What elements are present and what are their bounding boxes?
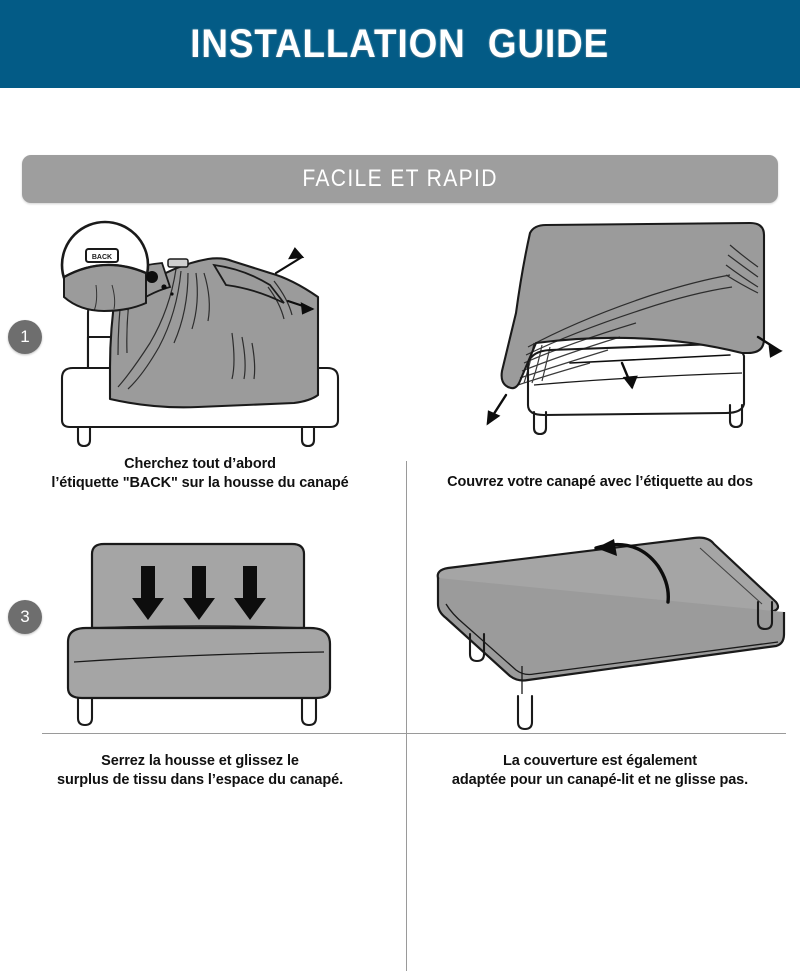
step-2-illustration <box>400 215 800 450</box>
caption-line: l’étiquette "BACK" sur la housse du cana… <box>0 474 400 493</box>
step-panel-1: 1 <box>0 215 400 505</box>
sofa-bed <box>438 538 784 694</box>
step-panel-4: 4 <box>400 520 800 810</box>
steps-grid: 1 <box>0 215 800 795</box>
sofa-legs <box>78 427 314 446</box>
covered-sofa-seat <box>68 626 330 698</box>
caption-line: Couvrez votre canapé avec l’étiquette au… <box>400 473 800 492</box>
header-banner: INSTALLATION GUIDE <box>0 0 800 88</box>
tuck-down-arrows <box>132 566 266 620</box>
caption-line: Serrez la housse et glissez le <box>0 752 400 771</box>
step-1-caption: Cherchez tout d’abord l’étiquette "BACK"… <box>0 455 400 493</box>
caption-line: adaptée pour un canapé-lit et ne glisse … <box>400 771 800 790</box>
caption-line: La couverture est également <box>400 752 800 771</box>
back-label-magnifier: BACK <box>62 222 148 311</box>
page-title: INSTALLATION GUIDE <box>191 22 610 67</box>
caption-line: Cherchez tout d’abord <box>0 455 400 474</box>
caption-line: surplus de tissu dans l’espace du canapé… <box>0 771 400 790</box>
subtitle-bar: FACILE ET RAPID <box>22 155 778 203</box>
step-3-caption: Serrez la housse et glissez le surplus d… <box>0 752 400 790</box>
step-panel-3: 3 Serrez la hou <box>0 520 400 810</box>
step-panel-2: 2 <box>400 215 800 505</box>
magnifier-back-label: BACK <box>92 254 112 261</box>
step-4-caption: La couverture est également adaptée pour… <box>400 752 800 790</box>
sofa-legs <box>78 698 316 725</box>
step-4-illustration <box>400 520 800 755</box>
step-3-illustration <box>0 520 400 755</box>
step-2-caption: Couvrez votre canapé avec l’étiquette au… <box>400 473 800 492</box>
back-tag-on-cover <box>168 259 188 267</box>
subtitle-text: FACILE ET RAPID <box>302 165 497 193</box>
step-1-illustration: BACK <box>0 215 400 450</box>
